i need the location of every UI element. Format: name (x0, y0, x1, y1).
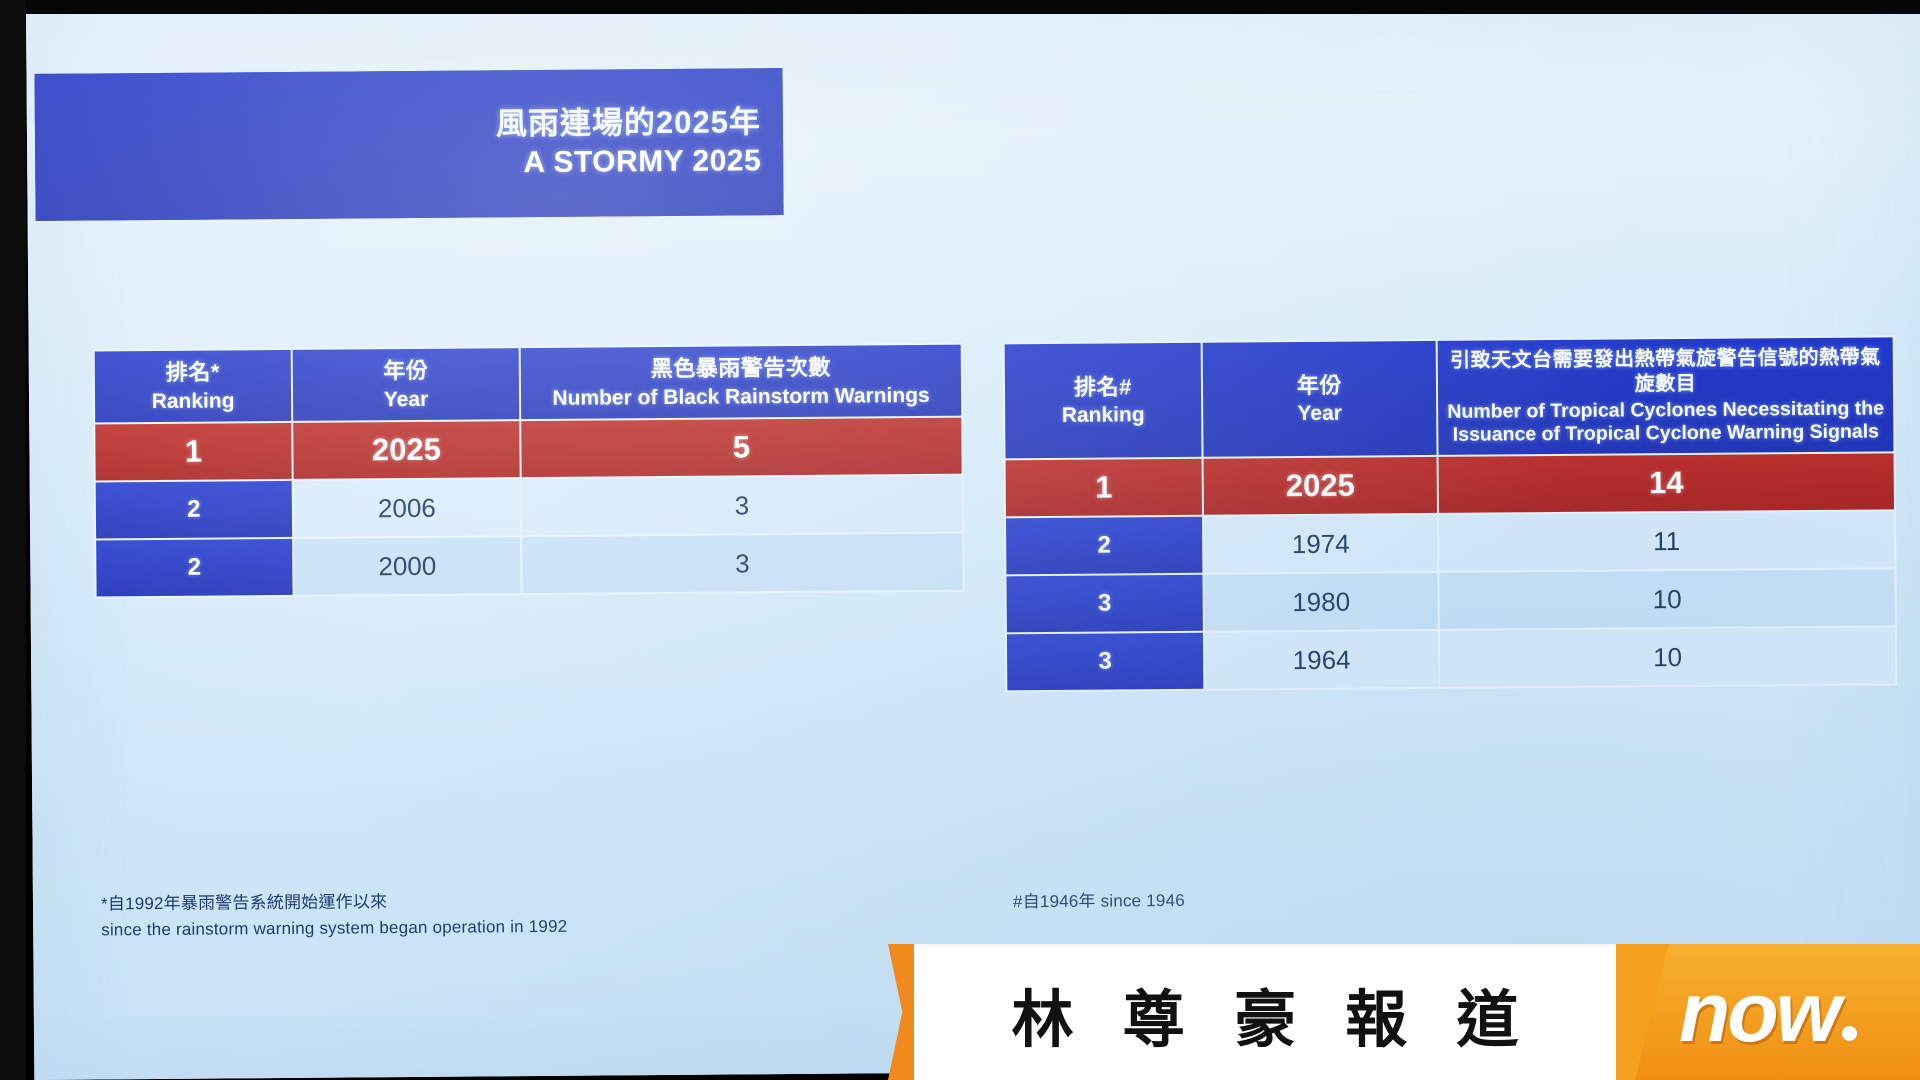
presentation-slide: 風雨連場的2025年 A STORMY 2025 排名* Ranking 年份 (26, 0, 1920, 1080)
cell-year: 2006 (293, 478, 521, 538)
letterbox-left (0, 0, 26, 1080)
footnote-right: #自1946年 since 1946 (1013, 885, 1573, 915)
now-logo: now (1679, 964, 1857, 1061)
cell-value: 14 (1438, 453, 1895, 515)
cell-value: 10 (1439, 627, 1896, 689)
banner-notch-icon (888, 944, 914, 1080)
cell-rank: 3 (1006, 632, 1204, 692)
broadcast-frame: 風雨連場的2025年 A STORMY 2025 排名* Ranking 年份 (0, 0, 1920, 1080)
cell-rank: 2 (95, 480, 293, 540)
channel-logo-plate: now (1616, 944, 1920, 1080)
header-ranking-en: Ranking (101, 388, 285, 415)
cell-year: 1964 (1204, 630, 1439, 690)
cell-year: 2000 (293, 536, 521, 596)
header-ranking-zh: 排名* (101, 358, 285, 387)
table-row: 1 2025 5 (94, 417, 962, 482)
cell-value: 5 (520, 417, 962, 478)
cell-rank: 2 (1005, 516, 1203, 576)
cell-rank: 3 (1005, 574, 1203, 634)
letterbox-top (0, 0, 1920, 14)
header-count-en: Number of Tropical Cyclones Necessitatin… (1444, 397, 1887, 447)
footnote-left-en: since the rainstorm warning system began… (101, 912, 781, 943)
table-right-header-ranking: 排名# Ranking (1004, 342, 1203, 460)
header-year-zh: 年份 (299, 356, 513, 385)
table-row: 3 1964 10 (1006, 627, 1896, 692)
cell-value: 3 (521, 475, 963, 536)
table-row: 2 2000 3 (95, 533, 963, 598)
table-left-header-count: 黑色暴雨警告次數 Number of Black Rainstorm Warni… (520, 344, 963, 421)
footnote-right-text: #自1946年 since 1946 (1013, 885, 1573, 915)
table-right-header-year: 年份 Year (1202, 340, 1438, 458)
tropical-cyclones-table: 排名# Ranking 年份 Year 引致天文台需要發出熱帶氣旋警告信號的熱帶… (1003, 335, 1898, 692)
header-year-en: Year (299, 386, 513, 413)
header-count-zh: 黑色暴雨警告次數 (527, 353, 955, 384)
lower-third-banner: 林 尊 豪 報 道 now (888, 944, 1920, 1080)
table-left-header-year: 年份 Year (292, 347, 521, 422)
cell-value: 3 (521, 533, 963, 594)
header-count-en: Number of Black Rainstorm Warnings (527, 382, 955, 411)
cell-year: 1980 (1203, 572, 1438, 632)
cell-year: 1974 (1203, 514, 1438, 574)
cell-rank: 2 (95, 538, 293, 598)
now-logo-dot-icon (1842, 1026, 1857, 1041)
table-row: 3 1980 10 (1005, 569, 1895, 634)
cell-rank: 1 (94, 422, 292, 482)
slide-title-banner: 風雨連場的2025年 A STORMY 2025 (34, 68, 783, 221)
cell-rank: 1 (1005, 458, 1203, 518)
slide-title-english: A STORMY 2025 (523, 144, 761, 182)
slide-title-chinese: 風雨連場的2025年 (496, 104, 761, 143)
cell-year: 2025 (292, 420, 520, 480)
reporter-name-plate: 林 尊 豪 報 道 (914, 944, 1616, 1080)
header-ranking-en: Ranking (1011, 402, 1195, 429)
table-left-header-row: 排名* Ranking 年份 Year 黑色暴雨警告次數 Number of B… (94, 344, 963, 424)
header-year-en: Year (1209, 400, 1430, 427)
table-row: 1 2025 14 (1005, 453, 1895, 518)
reporter-name: 林 尊 豪 報 道 (996, 969, 1535, 1059)
table-row: 2 1974 11 (1005, 511, 1895, 576)
table-row: 2 2006 3 (95, 475, 963, 540)
footnote-left: *自1992年暴雨警告系統開始運作以來 since the rainstorm … (101, 886, 781, 942)
cell-value: 10 (1438, 569, 1895, 631)
header-year-zh: 年份 (1209, 371, 1430, 400)
cell-year: 2025 (1203, 456, 1438, 516)
table-right-header-count: 引致天文台需要發出熱帶氣旋警告信號的熱帶氣旋數目 Number of Tropi… (1437, 336, 1895, 456)
header-count-zh: 引致天文台需要發出熱帶氣旋警告信號的熱帶氣旋數目 (1444, 345, 1887, 398)
table-left-header-ranking: 排名* Ranking (94, 349, 293, 424)
table-right-header-row: 排名# Ranking 年份 Year 引致天文台需要發出熱帶氣旋警告信號的熱帶… (1004, 336, 1895, 459)
header-ranking-zh: 排名# (1011, 372, 1195, 401)
black-rainstorm-warnings-table: 排名* Ranking 年份 Year 黑色暴雨警告次數 Number of B… (93, 343, 965, 599)
cell-value: 11 (1438, 511, 1895, 573)
